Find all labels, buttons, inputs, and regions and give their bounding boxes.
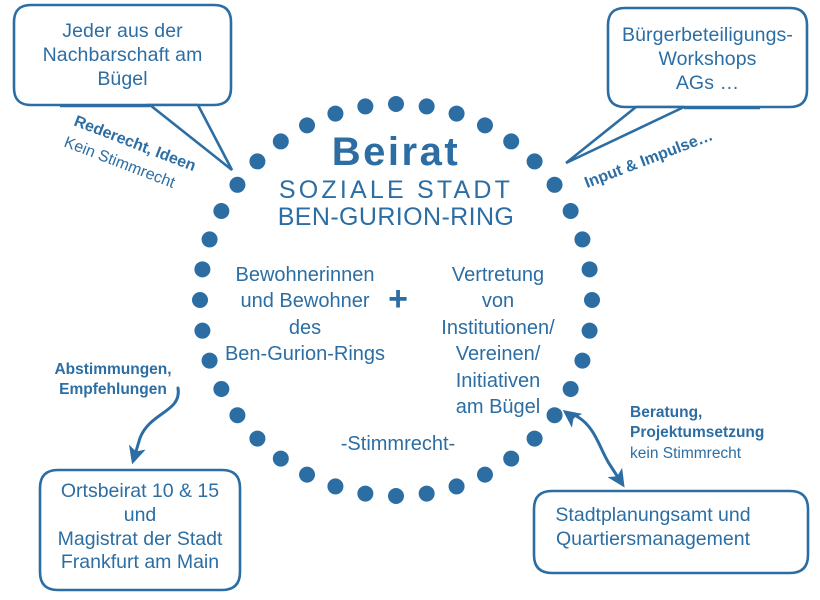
annotation-kein-stimmrecht-right: kein Stimmrecht [630,444,741,464]
ring-dot [357,98,373,114]
ring-dot [273,451,289,467]
annotation-abstimmungen-empfehlungen: Abstimmungen, Empfehlungen [48,360,178,400]
diagram-canvas: Jeder aus der Nachbarschaft am Bügel Bür… [0,0,820,600]
ring-dot [229,177,245,193]
ring-dot [299,467,315,483]
ring-dot [584,292,600,308]
ring-dot [563,203,579,219]
ring-dot [477,467,493,483]
box-stadtplanungsamt-label: Stadtplanungsamt und Quartiersmanagement [540,504,766,552]
page-title: Beirat [296,128,496,177]
ring-dot [249,153,265,169]
ring-dot [419,98,435,114]
ring-dot [582,323,598,339]
ring-dot [194,323,210,339]
ring-dot [213,203,229,219]
ring-dot [213,381,229,397]
ring-dot [388,488,404,504]
ring-dot [527,431,543,447]
ring-dot [388,96,404,112]
ring-dot [527,153,543,169]
ring-dot [327,478,343,494]
ring-dot [547,177,563,193]
ring-dot [327,106,343,122]
center-right-column-label: Vertretung von Institutionen/ Vereinen/ … [418,262,578,420]
plus-icon: + [383,282,413,316]
ring-dot [574,231,590,247]
ring-dot [357,486,373,502]
center-left-column-label: Bewohnerinnen und Bewohner des Ben-Gurio… [215,262,395,368]
ring-dot [194,261,210,277]
ring-dot [249,431,265,447]
bubble-neighborhood-label: Jeder aus der Nachbarschaft am Bügel [20,20,225,91]
box-ortsbeirat-label: Ortsbeirat 10 & 15 und Magistrat der Sta… [45,480,235,575]
ring-dot [192,292,208,308]
ring-dot [449,106,465,122]
ring-dot [229,407,245,423]
ring-dot [449,478,465,494]
ring-dot [273,133,289,149]
annotation-beratung-projektumsetzung: Beratung, Projektumsetzung [630,403,764,443]
double-arrow-icon-lower [578,417,621,482]
ring-dot [503,133,519,149]
ring-dot [582,261,598,277]
page-subtitle-1: SOZIALE STADT [276,175,516,206]
page-subtitle-2: BEN-GURION-RING [276,202,516,233]
ring-dot [503,451,519,467]
center-footer-label: -Stimmrecht- [308,432,488,456]
ring-dot [419,486,435,502]
bubble-participation-label: Bürgerbeteiligungs- Workshops AGs … [612,24,803,95]
ring-dot [202,231,218,247]
